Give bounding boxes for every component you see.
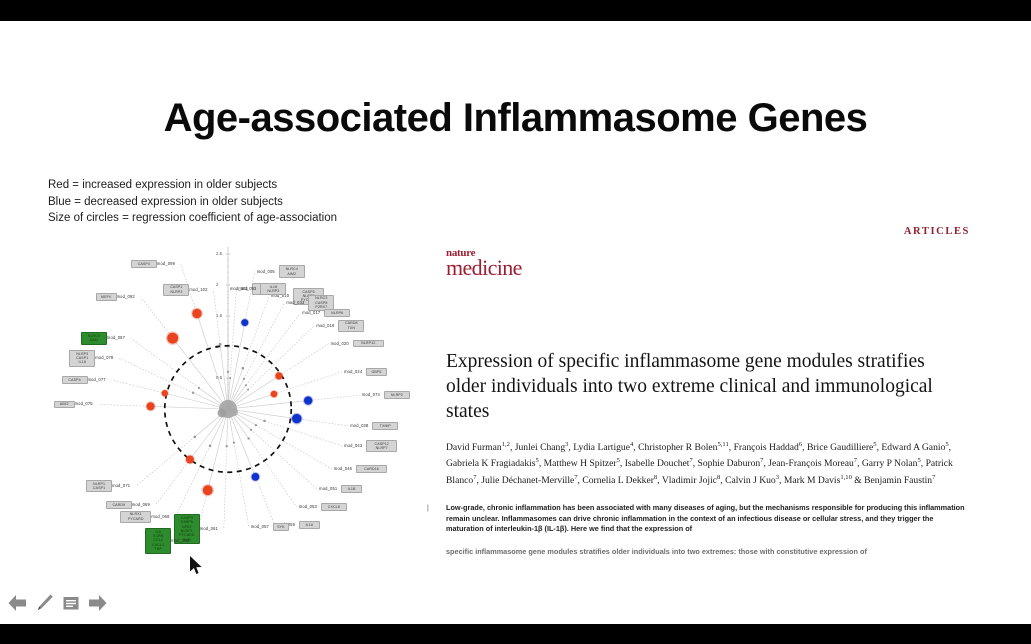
module-label: mod_046 [334,466,352,471]
gene-name: AIM2 [90,338,99,342]
journal-article-panel: ARTICLES nature medicine Expression of s… [425,217,1015,557]
gene-name: AIM2 [287,272,296,276]
network-node[interactable] [241,319,248,326]
radial-axis-tick: 1.5 [216,313,222,318]
module-label: mod_092 [117,294,135,299]
gene-module-box[interactable]: CARD9 [106,501,132,509]
module-label: mod_005 [257,269,275,274]
gene-module-box[interactable]: CASP4 [131,260,157,268]
bottom-letterbox-bar [0,624,1031,644]
gene-module-box[interactable]: IL6IL1RNCCL2CXCL1TNF [145,528,171,554]
network-node[interactable] [193,436,196,439]
module-label: mod_075 [75,401,93,406]
gene-name: MEFV [101,295,111,299]
module-label: mod_061 [200,526,218,531]
network-node[interactable] [192,309,202,319]
gene-name: PYCARD [128,517,144,521]
gene-module-box[interactable]: MEFV [96,293,117,301]
network-node[interactable] [162,390,168,396]
gene-name: NLRP3 [267,289,279,293]
module-label: mod_024 [344,369,362,374]
arrow-right-icon[interactable] [87,592,109,614]
network-node[interactable] [271,391,278,398]
gene-module-box[interactable]: IL1B [341,485,362,493]
gene-module-box[interactable]: CXCL8 [321,503,347,511]
module-label: mod_053 [299,504,317,509]
network-node[interactable] [233,441,235,443]
network-node[interactable] [146,402,154,410]
radial-axis-tick: 0.5 [216,375,222,380]
module-label: mod_074 [362,392,380,397]
figure-legend: Red = increased expression in older subj… [48,177,337,227]
gene-module-box[interactable]: NLRC5AIM2 [81,332,107,344]
module-label: mod_020 [331,341,349,346]
logo-medicine-text: medicine [446,255,522,281]
gene-module-box[interactable]: CASP12NLRP7 [366,440,397,452]
slide-canvas: Age-associated Inflammasome Genes Red = … [0,21,1031,624]
module-label: mod_069 [132,502,150,507]
module-label: mod_043 [344,443,362,448]
network-node[interactable] [292,414,302,424]
gene-module-box[interactable]: NLRX1PYCARD [120,511,151,523]
network-svg [18,246,418,576]
network-node[interactable] [255,424,257,426]
network-node[interactable] [209,444,212,447]
legend-line-blue: Blue = decreased expression in older sub… [48,194,337,211]
network-node[interactable] [229,377,231,379]
gene-name: CASP4 [138,262,150,266]
radial-axis-tick: 1 [216,344,218,349]
article-abstract-clipped: specific inflammasome gene modules strat… [446,547,966,556]
gene-name: NLRP3 [170,290,182,294]
module-label: mod_038 [350,423,368,428]
gene-module-box[interactable]: GBP5 [366,368,387,376]
gene-module-box[interactable]: TXNIP [372,422,398,430]
module-label: mod_033 [286,300,304,305]
network-node[interactable] [226,445,228,447]
legend-line-red: Red = increased expression in older subj… [48,177,337,194]
network-node[interactable] [227,371,229,373]
mouse-cursor-icon [190,556,203,575]
gene-name: SYK [277,525,285,529]
module-label: mod_057 [251,524,269,529]
pen-icon[interactable] [33,592,55,614]
gene-name: IL1B [348,487,356,491]
gene-module-box[interactable]: SYK [273,523,289,531]
abstract-marker: | [427,505,429,512]
module-label: mod_068 [151,514,169,519]
network-node[interactable] [304,396,312,404]
radial-network-figure: 0.511.522.5mod_099CASP4mod_102CASP1NLRP3… [18,246,418,576]
network-node[interactable] [252,473,260,481]
network-node[interactable] [250,429,252,431]
module-label: mod_062 [171,538,189,543]
gene-name: AIM2 [60,402,69,406]
network-node[interactable] [167,333,178,344]
page-title: Age-associated Inflammasome Genes [0,96,1031,141]
article-authors: David Furman1,2, Junlei Chang3, Lydia La… [446,438,986,487]
network-node[interactable] [245,384,247,386]
gene-module-box[interactable]: CASP1NLRP3 [163,284,189,296]
network-node[interactable] [247,389,249,391]
module-label: mod_019 [316,323,334,328]
gene-module-box[interactable]: IL18NLRP3 [260,283,286,295]
module-label: mod_071 [112,483,130,488]
gene-name: TNF [155,547,162,551]
gene-module-box[interactable]: CASP4 [62,376,88,384]
gene-module-box[interactable]: NLRP2 [384,391,410,399]
gene-name: GBP5 [372,370,382,374]
gene-name: IL18 [306,523,313,527]
module-label: mod_017 [302,310,320,315]
module-label: mod_102 [189,287,207,292]
gene-name: CXCL8 [328,505,340,509]
presentation-toolbar[interactable] [6,592,109,614]
legend-line-size: Size of circles = regression coefficient… [48,210,337,227]
module-label: mod_051 [319,486,337,491]
gene-name: CARD16 [364,467,379,471]
gene-name: NLRP6 [331,311,343,315]
gene-module-box[interactable]: CARD8TXN [338,320,364,332]
gene-name: CASP4 [68,378,80,382]
article-abstract: Low-grade, chronic inflammation has been… [446,503,966,535]
gene-module-box[interactable]: NLRP1CASP1 [86,480,112,492]
gene-module-box[interactable]: CARD16 [356,465,387,473]
gene-name: NLRP12 [361,341,375,345]
network-node[interactable] [203,485,213,495]
module-label: mod_078 [95,355,113,360]
top-letterbox-bar [0,0,1031,21]
arrow-left-icon[interactable] [6,592,28,614]
gene-name: NLRP7 [376,446,388,450]
module-label: mod_099 [157,261,175,266]
gene-module-box[interactable]: NLRP3CASP1IL18 [69,350,95,367]
network-node[interactable] [192,392,194,394]
network-node[interactable] [275,372,282,379]
network-node[interactable] [219,343,222,346]
network-node[interactable] [198,387,200,389]
screen: Age-associated Inflammasome Genes Red = … [0,0,1031,644]
network-node[interactable] [247,437,249,439]
gene-name: TXN [348,326,356,330]
network-node[interactable] [242,367,245,370]
articles-header: ARTICLES [904,226,970,237]
gene-name: CARD9 [112,503,125,507]
article-title: Expression of specific inflammasome gene… [446,349,966,424]
gene-module-box[interactable]: NLRC4AIM2 [279,265,305,277]
module-label: mod_077 [88,377,106,382]
gene-module-box[interactable]: IL18 [299,521,320,529]
gene-name: CASP1 [93,486,105,490]
module-label: mod_093 [238,286,256,291]
module-label: mod_087 [107,335,125,340]
network-node[interactable] [243,378,245,380]
gene-module-box[interactable]: NLRP6 [324,309,350,317]
list-icon[interactable] [60,592,82,614]
gene-name: TXNIP [380,424,391,428]
gene-module-box[interactable]: AIM2 [54,401,75,409]
radial-axis-tick: 2 [216,282,218,287]
gene-name: IL18 [79,360,86,364]
radial-axis-tick: 2.5 [216,251,222,256]
network-node[interactable] [186,456,194,464]
gene-module-box[interactable]: NLRP12 [353,340,384,348]
network-node[interactable] [263,420,266,423]
gene-name: NLRP2 [391,393,403,397]
